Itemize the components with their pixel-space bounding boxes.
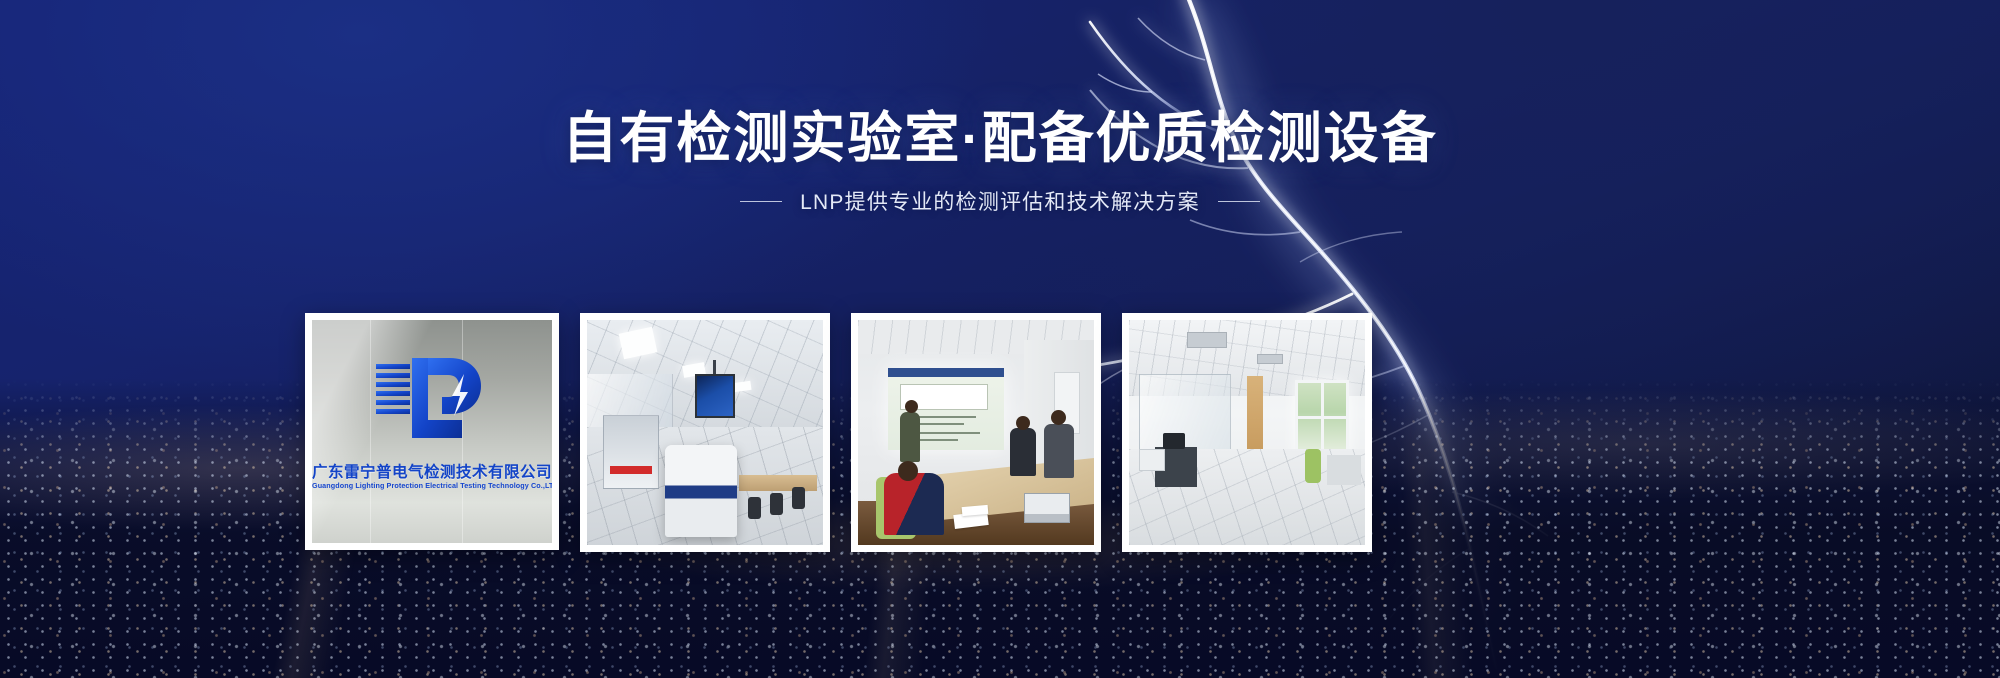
gallery-card-company-logo-wall[interactable]: 广东雷宁普电气检测技术有限公司 Guangdong Lighting Prote… [305, 313, 559, 550]
laptop [1024, 493, 1070, 523]
attendee-head [1051, 410, 1066, 425]
photo-office-corridor [1129, 320, 1365, 545]
ceiling-vent [1187, 332, 1227, 348]
attendee [1044, 424, 1074, 478]
test-equipment-rack [603, 415, 659, 489]
rule-left-icon [740, 201, 782, 202]
office-chair [1305, 449, 1321, 483]
photo-gallery: 广东雷宁普电气检测技术有限公司 Guangdong Lighting Prote… [305, 313, 1372, 552]
attendee-head [1016, 416, 1030, 430]
lab-chair [792, 487, 805, 509]
hero-text-block: 自有检测实验室·配备优质检测设备 LNP提供专业的检测评估和技术解决方案 [0, 0, 2000, 216]
reception-counter [1327, 455, 1361, 485]
desktop-monitor [1163, 433, 1185, 449]
hero-subtitle: LNP提供专业的检测评估和技术解决方案 [800, 186, 1200, 216]
photo-testing-laboratory [587, 320, 823, 545]
gallery-card-testing-laboratory[interactable] [580, 313, 830, 552]
wooden-door [1247, 376, 1263, 454]
window [1295, 380, 1349, 458]
rack-indicator [610, 466, 652, 474]
wall-monitor [695, 374, 735, 418]
hero-subtitle-row: LNP提供专业的检测评估和技术解决方案 [0, 186, 2000, 216]
attendee-head [898, 461, 918, 481]
window-mullion [1298, 416, 1346, 419]
attendee [884, 473, 944, 535]
attendee [1010, 428, 1036, 476]
logo-company-name-en: Guangdong Lighting Protection Electrical… [312, 481, 552, 490]
lnp-logo-icon [368, 344, 496, 456]
photo-training-meeting-room [858, 320, 1094, 545]
photo-company-logo-wall: 广东雷宁普电气检测技术有限公司 Guangdong Lighting Prote… [312, 320, 552, 543]
ceiling-vent [1257, 354, 1283, 364]
logo-company-name-cn: 广东雷宁普电气检测技术有限公司 [312, 460, 552, 482]
rule-right-icon [1218, 201, 1260, 202]
page-title: 自有检测实验室·配备优质检测设备 [0, 106, 2000, 170]
lab-chair [770, 493, 783, 515]
attendee [900, 412, 920, 462]
gallery-card-training-meeting-room[interactable] [851, 313, 1101, 552]
work-bench [739, 475, 817, 491]
test-console [665, 445, 737, 537]
hero-banner: 自有检测实验室·配备优质检测设备 LNP提供专业的检测评估和技术解决方案 [0, 0, 2000, 678]
slide-title-bar [888, 368, 1004, 377]
gallery-card-office-corridor[interactable] [1122, 313, 1372, 552]
office-cabinet [1139, 449, 1165, 471]
lab-chair [748, 497, 761, 519]
attendee-head [905, 400, 918, 413]
